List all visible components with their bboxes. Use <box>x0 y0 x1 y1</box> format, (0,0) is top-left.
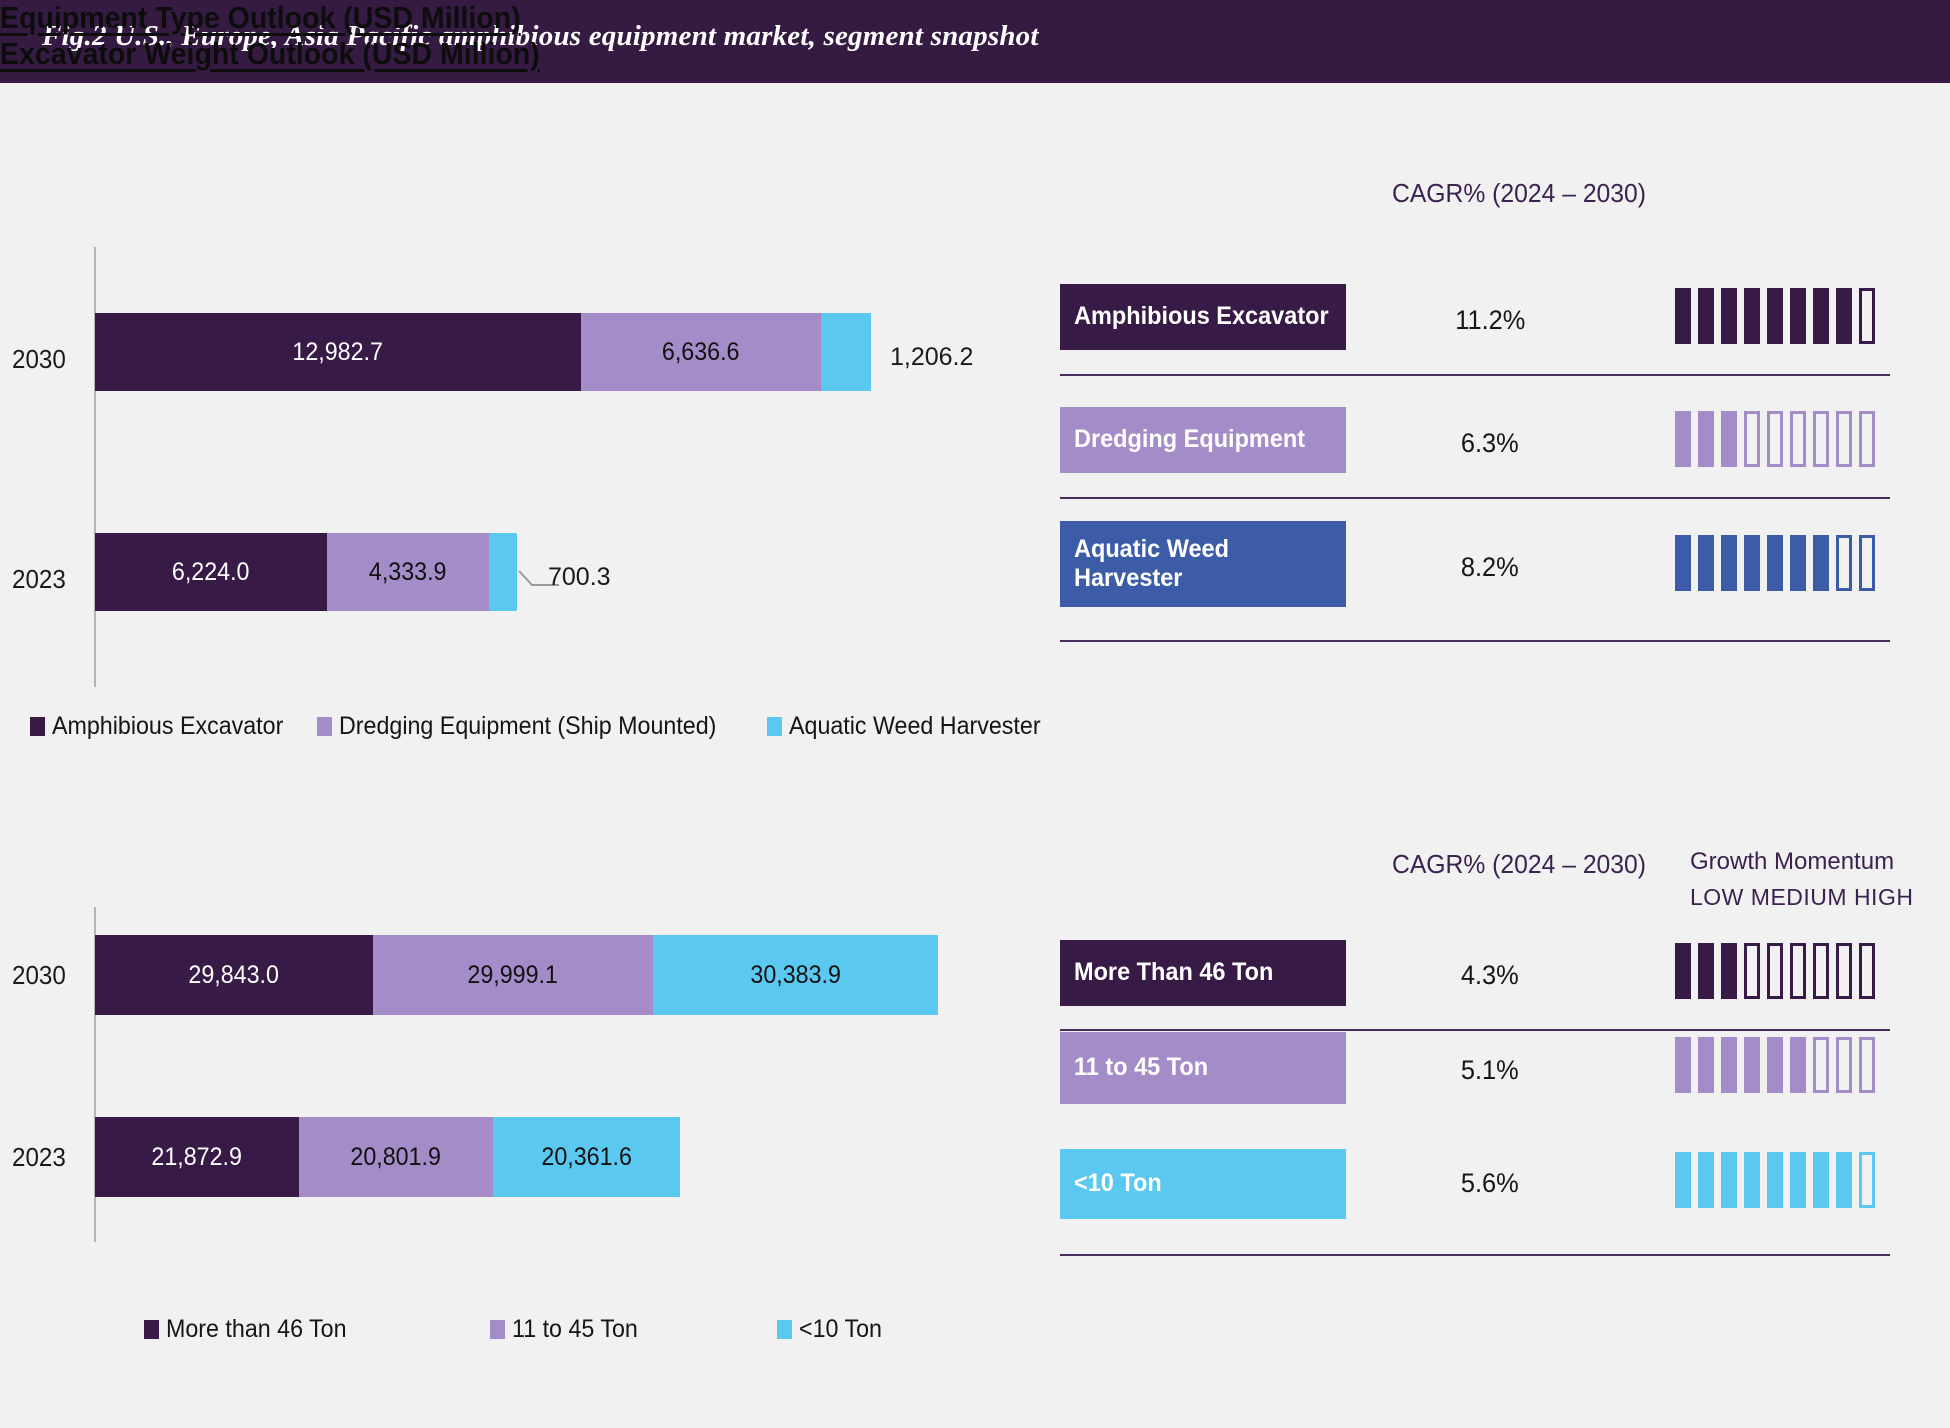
legend-item-aquatic-weed-harvester: Aquatic Weed Harvester <box>767 712 1060 741</box>
momentum-bar <box>1859 943 1875 999</box>
legend-swatch-11-to-45-ton <box>490 1320 505 1339</box>
momentum-bar <box>1813 1037 1829 1093</box>
top-bar-2023-aquatic-weed-harvester-label: 700.3 <box>548 563 611 592</box>
legend-item-dredging-equipment: Dredging Equipment (Ship Mounted) <box>317 712 745 741</box>
top-chart-year-2023: 2023 <box>12 564 66 595</box>
momentum-bar <box>1859 411 1875 467</box>
legend-label-more-than-46-ton: More than 46 Ton <box>166 1315 347 1344</box>
momentum-bar <box>1836 943 1852 999</box>
top-chart-legend: Amphibious Excavator Dredging Equipment … <box>30 712 1059 741</box>
momentum-bar <box>1698 1037 1714 1093</box>
momentum-bar <box>1744 943 1760 999</box>
cagr-tag-label-dredging-equipment: Dredging Equipment <box>1074 425 1305 455</box>
excavator-weight-chart-title: Excavator Weight Outlook (USD Million) <box>0 36 1794 72</box>
top-bar-2023-amphibious-excavator-label: 6,224.0 <box>172 558 250 587</box>
cagr-tag-under-10-ton[interactable]: <10 Ton <box>1060 1149 1346 1219</box>
cagr-value-amphibious-excavator: 11.2% <box>1400 305 1580 336</box>
top-cagr-heading: CAGR% (2024 – 2030) <box>1392 178 1646 209</box>
legend-item-more-than-46-ton: More than 46 Ton <box>144 1315 360 1344</box>
momentum-bar <box>1675 1152 1691 1208</box>
growth-momentum-heading: Growth Momentum <box>1690 848 1894 876</box>
row-divider-5 <box>1060 1254 1890 1256</box>
bottom-bar-2023-more-than-46-ton: 21,872.9 <box>95 1117 299 1197</box>
cagr-value-under-10-ton: 5.6% <box>1400 1168 1580 1199</box>
momentum-bar <box>1744 288 1760 344</box>
cagr-tag-11-to-45-ton[interactable]: 11 to 45 Ton <box>1060 1032 1346 1104</box>
momentum-bar <box>1721 288 1737 344</box>
momentum-bar <box>1675 535 1691 591</box>
bottom-bar-2030-more-than-46-ton-label: 29,843.0 <box>189 961 280 990</box>
cagr-value-more-than-46-ton: 4.3% <box>1400 960 1580 991</box>
top-bar-2030-dredging-equipment-label: 6,636.6 <box>662 338 740 367</box>
top-bar-2023-dredging-equipment-label: 4,333.9 <box>369 558 447 587</box>
legend-swatch-under-10-ton <box>777 1320 792 1339</box>
momentum-bar <box>1767 288 1783 344</box>
momentum-bar <box>1675 1037 1691 1093</box>
top-bar-2030-aquatic-weed-harvester <box>821 313 871 391</box>
bottom-cagr-heading: CAGR% (2024 – 2030) <box>1392 849 1646 880</box>
momentum-bar <box>1790 943 1806 999</box>
momentum-bar <box>1813 411 1829 467</box>
growth-momentum-scale: LOW MEDIUM HIGH <box>1690 884 1913 911</box>
momentum-bar <box>1836 1037 1852 1093</box>
momentum-bar <box>1675 411 1691 467</box>
row-divider-1 <box>1060 374 1890 376</box>
legend-label-amphibious-excavator: Amphibious Excavator <box>52 712 283 741</box>
momentum-bar <box>1767 1037 1783 1093</box>
momentum-bar <box>1675 943 1691 999</box>
momentum-bar <box>1836 411 1852 467</box>
cagr-value-11-to-45-ton: 5.1% <box>1400 1055 1580 1086</box>
momentum-bar <box>1813 535 1829 591</box>
momentum-bar <box>1698 1152 1714 1208</box>
cagr-value-dredging-equipment: 6.3% <box>1400 428 1580 459</box>
momentum-bar <box>1813 288 1829 344</box>
legend-item-amphibious-excavator: Amphibious Excavator <box>30 712 301 741</box>
momentum-bar <box>1721 535 1737 591</box>
momentum-bar <box>1721 943 1737 999</box>
cagr-tag-amphibious-excavator[interactable]: Amphibious Excavator <box>1060 284 1346 350</box>
cagr-tag-more-than-46-ton[interactable]: More Than 46 Ton <box>1060 940 1346 1006</box>
momentum-bar <box>1744 1037 1760 1093</box>
momentum-bar <box>1836 1152 1852 1208</box>
momentum-bar <box>1836 288 1852 344</box>
top-chart-year-2030: 2030 <box>12 344 66 375</box>
momentum-bar <box>1813 1152 1829 1208</box>
bottom-chart-year-2030: 2030 <box>12 960 66 991</box>
legend-item-11-to-45-ton: 11 to 45 Ton <box>490 1315 647 1344</box>
top-bar-2023-amphibious-excavator: 6,224.0 <box>95 533 327 611</box>
momentum-amphibious-excavator <box>1675 288 1875 344</box>
legend-label-under-10-ton: <10 Ton <box>799 1315 882 1344</box>
momentum-under-10-ton <box>1675 1152 1875 1208</box>
bottom-bar-2023-more-than-46-ton-label: 21,872.9 <box>152 1143 243 1172</box>
cagr-tag-dredging-equipment[interactable]: Dredging Equipment <box>1060 407 1346 473</box>
momentum-bar <box>1698 411 1714 467</box>
legend-label-dredging-equipment: Dredging Equipment (Ship Mounted) <box>339 712 716 741</box>
cagr-tag-aquatic-weed-harvester[interactable]: Aquatic Weed Harvester <box>1060 521 1346 607</box>
top-bar-2030-aquatic-weed-harvester-label: 1,206.2 <box>890 343 973 372</box>
bottom-bar-2023-under-10-ton: 20,361.6 <box>493 1117 680 1197</box>
legend-label-aquatic-weed-harvester: Aquatic Weed Harvester <box>789 712 1041 741</box>
momentum-bar <box>1721 411 1737 467</box>
momentum-bar <box>1698 535 1714 591</box>
top-bar-2030-amphibious-excavator-label: 12,982.7 <box>293 338 384 367</box>
momentum-bar <box>1744 411 1760 467</box>
legend-swatch-aquatic-weed-harvester <box>767 717 782 736</box>
bottom-bar-2030-11-to-45-ton: 29,999.1 <box>373 935 653 1015</box>
legend-swatch-amphibious-excavator <box>30 717 45 736</box>
momentum-bar <box>1790 535 1806 591</box>
cagr-tag-label-amphibious-excavator: Amphibious Excavator <box>1074 302 1329 332</box>
momentum-bar <box>1813 943 1829 999</box>
momentum-dredging-equipment <box>1675 411 1875 467</box>
bottom-bar-2030-under-10-ton-label: 30,383.9 <box>750 961 841 990</box>
momentum-bar <box>1790 1037 1806 1093</box>
row-divider-4 <box>1060 1029 1890 1031</box>
legend-label-11-to-45-ton: 11 to 45 Ton <box>512 1315 638 1344</box>
momentum-bar <box>1859 1152 1875 1208</box>
momentum-bar <box>1790 411 1806 467</box>
cagr-tag-label-aquatic-weed-harvester: Aquatic Weed Harvester <box>1074 535 1330 594</box>
top-bar-2023-dredging-equipment: 4,333.9 <box>327 533 489 611</box>
legend-swatch-dredging-equipment <box>317 717 332 736</box>
momentum-bar <box>1721 1152 1737 1208</box>
momentum-bar <box>1721 1037 1737 1093</box>
row-divider-3 <box>1060 640 1890 642</box>
cagr-value-aquatic-weed-harvester: 8.2% <box>1400 552 1580 583</box>
momentum-bar <box>1744 535 1760 591</box>
bottom-bar-2030-under-10-ton: 30,383.9 <box>653 935 938 1015</box>
cagr-tag-label-11-to-45-ton: 11 to 45 Ton <box>1074 1053 1208 1083</box>
momentum-bar <box>1698 943 1714 999</box>
momentum-bar <box>1675 288 1691 344</box>
momentum-bar <box>1836 535 1852 591</box>
momentum-bar <box>1790 288 1806 344</box>
momentum-more-than-46-ton <box>1675 943 1875 999</box>
bottom-bar-2023-11-to-45-ton: 20,801.9 <box>299 1117 493 1197</box>
legend-swatch-more-than-46-ton <box>144 1320 159 1339</box>
cagr-tag-label-more-than-46-ton: More Than 46 Ton <box>1074 958 1273 988</box>
bottom-bar-2023-11-to-45-ton-label: 20,801.9 <box>351 1143 442 1172</box>
bottom-bar-2030-11-to-45-ton-label: 29,999.1 <box>468 961 559 990</box>
momentum-bar <box>1698 288 1714 344</box>
momentum-bar <box>1859 535 1875 591</box>
equipment-type-chart-title: Equipment Type Outlook (USD Million) <box>0 0 1794 36</box>
momentum-bar <box>1859 288 1875 344</box>
momentum-bar <box>1859 1037 1875 1093</box>
bottom-chart-legend: More than 46 Ton 11 to 45 Ton <10 Ton <box>144 1315 889 1344</box>
momentum-bar <box>1767 411 1783 467</box>
top-bar-2030-dredging-equipment: 6,636.6 <box>581 313 821 391</box>
bottom-bar-2023-under-10-ton-label: 20,361.6 <box>541 1143 632 1172</box>
momentum-bar <box>1790 1152 1806 1208</box>
momentum-aquatic-weed-harvester <box>1675 535 1875 591</box>
legend-item-under-10-ton: <10 Ton <box>777 1315 888 1344</box>
momentum-bar <box>1744 1152 1760 1208</box>
top-bar-2023-aquatic-weed-harvester <box>489 533 517 611</box>
top-bar-2030-amphibious-excavator: 12,982.7 <box>95 313 581 391</box>
bottom-bar-2030-more-than-46-ton: 29,843.0 <box>95 935 373 1015</box>
row-divider-2 <box>1060 497 1890 499</box>
momentum-bar <box>1767 943 1783 999</box>
momentum-bar <box>1767 1152 1783 1208</box>
momentum-11-to-45-ton <box>1675 1037 1875 1093</box>
momentum-bar <box>1767 535 1783 591</box>
bottom-chart-year-2023: 2023 <box>12 1142 66 1173</box>
cagr-tag-label-under-10-ton: <10 Ton <box>1074 1169 1162 1199</box>
